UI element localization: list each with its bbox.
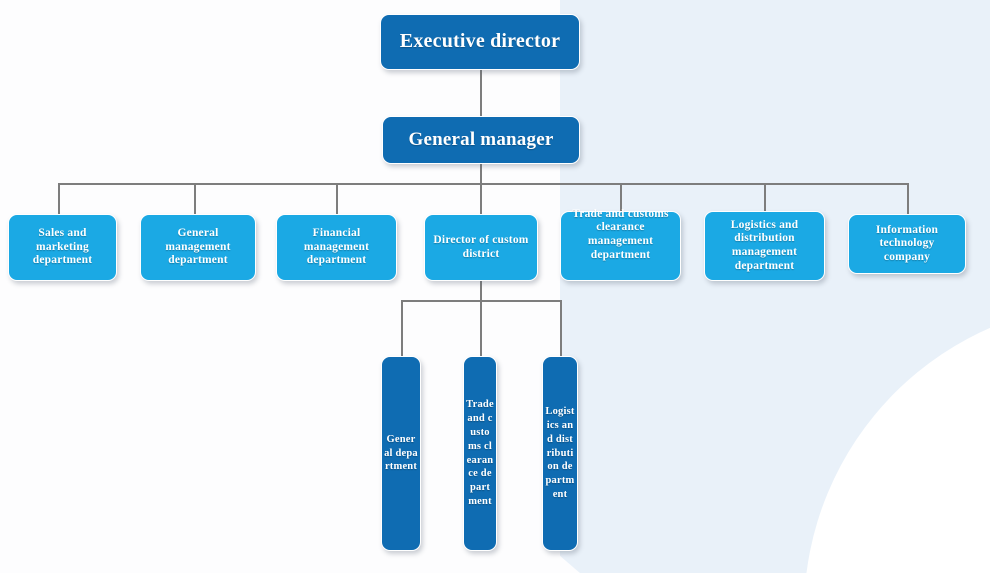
- connector-drop-general-department: [401, 300, 403, 356]
- connector-drop-general-management-department: [194, 183, 196, 214]
- node-general-department[interactable]: General department: [381, 356, 421, 551]
- node-label: Trade and customs clearance management d…: [561, 208, 680, 262]
- connector-drop-information-technology-company: [907, 183, 909, 214]
- node-executive-director[interactable]: Executive director: [380, 14, 580, 70]
- connector-drop-trade-and-customs-clearance-department: [480, 300, 482, 356]
- node-logistics-and-distribution-management-department[interactable]: Logistics and distribution management de…: [704, 211, 825, 281]
- connector-drop-sales-and-marketing-department: [58, 183, 60, 214]
- node-label: Trade and customs clearance department: [464, 398, 496, 510]
- node-label: General manager: [383, 129, 579, 151]
- connector-gm-drop: [480, 164, 482, 184]
- connector-level3-bus: [58, 183, 909, 185]
- node-trade-and-customs-clearance-department[interactable]: Trade and customs clearance department: [463, 356, 497, 551]
- node-information-technology-company[interactable]: Information technology company: [848, 214, 966, 274]
- node-logistics-and-distribution-department[interactable]: Logistics and distribution department: [542, 356, 578, 551]
- node-general-manager[interactable]: General manager: [382, 116, 580, 164]
- node-general-management-department[interactable]: General management department: [140, 214, 256, 281]
- node-label: Financial management department: [277, 227, 396, 268]
- org-chart-canvas: Executive director General manager Sales…: [0, 0, 990, 573]
- node-sales-and-marketing-department[interactable]: Sales and marketing department: [8, 214, 117, 281]
- connector-drop-logistics-and-distribution-department: [560, 300, 562, 356]
- node-label: Logistics and distribution department: [543, 405, 577, 503]
- node-label: Information technology company: [849, 224, 965, 265]
- connector-director-drop: [480, 281, 482, 302]
- connector-drop-financial-management-department: [336, 183, 338, 214]
- node-director-of-custom-district[interactable]: Director of custom district: [424, 214, 538, 281]
- connector-drop-director-of-custom-district: [480, 183, 482, 214]
- node-label: General department: [382, 433, 420, 475]
- node-label: General management department: [141, 227, 255, 268]
- node-trade-and-customs-clearance-management-department[interactable]: Trade and customs clearance management d…: [560, 211, 681, 281]
- node-label: Director of custom district: [425, 234, 537, 261]
- connector-exec-to-gm: [480, 70, 482, 116]
- node-label: Logistics and distribution management de…: [705, 219, 824, 273]
- node-label: Executive director: [381, 30, 579, 54]
- connector-drop-logistics-and-distribution-management-department: [764, 183, 766, 214]
- node-label: Sales and marketing department: [9, 227, 116, 268]
- node-financial-management-department[interactable]: Financial management department: [276, 214, 397, 281]
- connector-drop-trade-and-customs-clearance-management-department: [620, 183, 622, 211]
